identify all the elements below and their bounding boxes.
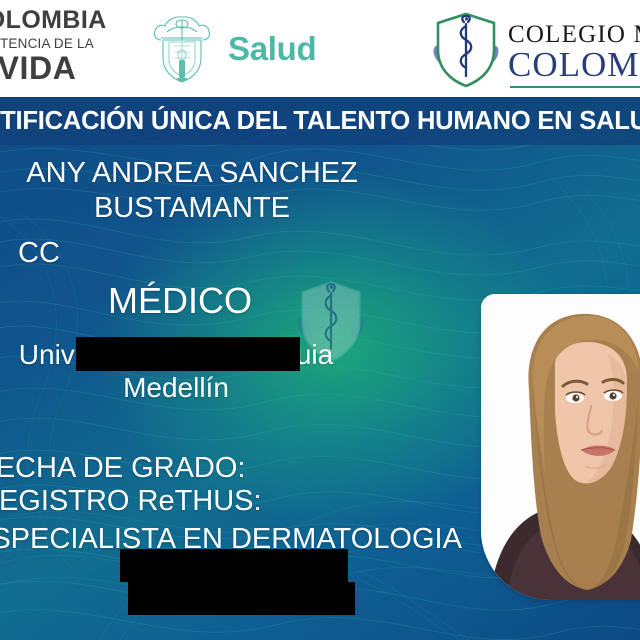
graduation-date-label: FECHA DE GRADO: (0, 452, 246, 485)
id-card-body: IDENTIFICACIÓN ÚNICA DEL TALENTO HUMANO … (0, 97, 640, 640)
cardholder-portrait (481, 294, 640, 600)
document-number-label: CC (18, 237, 60, 270)
holder-name-line-1: ANY ANDREA SANCHEZ (0, 157, 402, 190)
salud-wordmark: Salud (228, 30, 316, 68)
ministerio-de-salud-logo: Salud (143, 12, 333, 86)
health-professional-id-card: COLOMBIA POTENCIA DE LA VIDA (0, 0, 640, 640)
university-city: Medellín (0, 372, 386, 404)
redaction-bar-graduation-date (120, 549, 348, 582)
gov-logo-line-2: POTENCIA DE LA (0, 37, 122, 51)
colegio-wordmark: COLEGIO MÉDICO COLOMBIANO (508, 22, 640, 82)
card-title: IDENTIFICACIÓN ÚNICA DEL TALENTO HUMANO … (0, 107, 640, 136)
rethus-registry-label: REGISTRO ReTHUS: (0, 485, 262, 518)
colombia-coat-of-arms-icon (143, 12, 221, 91)
colombia-potencia-de-la-vida-logo: COLOMBIA POTENCIA DE LA VIDA (0, 8, 122, 86)
holder-name-line-2: BUSTAMANTE (0, 192, 402, 225)
colegio-underline-divider (510, 86, 640, 88)
colegio-line-1: COLEGIO MÉDICO (508, 21, 640, 48)
colegio-line-2: COLOMBIANO (508, 45, 640, 84)
card-title-bar: IDENTIFICACIÓN ÚNICA DEL TALENTO HUMANO … (0, 97, 640, 145)
profession-title: MÉDICO (0, 280, 390, 322)
redaction-bar-document-number (76, 337, 300, 371)
logo-header-bar: COLOMBIA POTENCIA DE LA VIDA (0, 0, 640, 97)
medical-shield-caduceus-icon (428, 10, 504, 97)
redaction-bar-rethus-number (128, 582, 355, 615)
gov-logo-line-1: COLOMBIA (0, 8, 122, 33)
colegio-medico-colombiano-logo: COLEGIO MÉDICO COLOMBIANO (428, 10, 640, 92)
gov-logo-line-3: VIDA (0, 52, 122, 84)
